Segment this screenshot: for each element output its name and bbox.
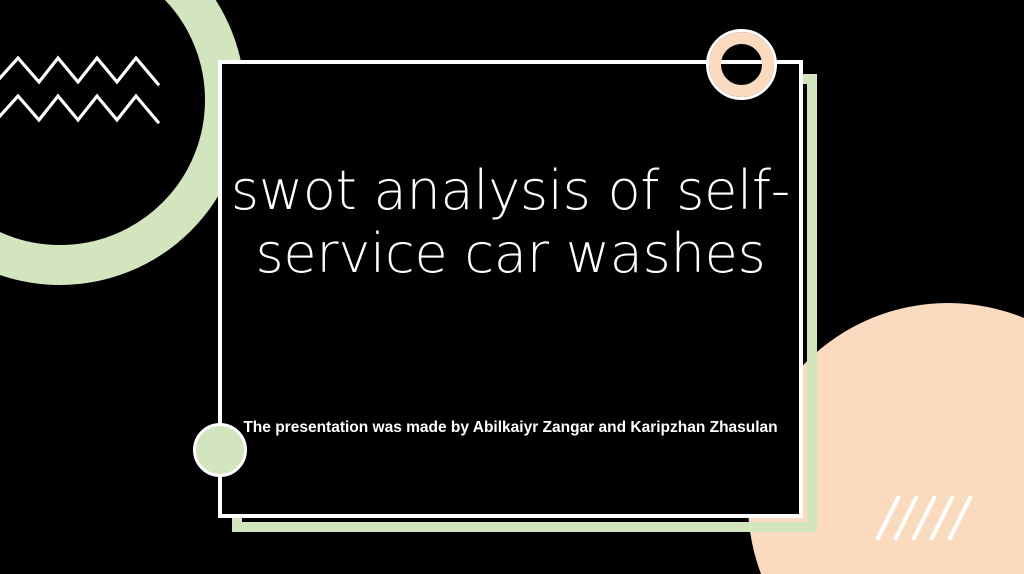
zigzag-decoration xyxy=(0,54,170,126)
peach-ring-inner xyxy=(709,32,774,97)
green-dot-decoration xyxy=(193,423,247,477)
presentation-byline: The presentation was made by Abilkaiyr Z… xyxy=(218,417,803,439)
diagonal-slashes-decoration xyxy=(873,492,973,544)
green-ring-decoration xyxy=(0,0,245,285)
subtitle-block: The presentation was made by Abilkaiyr Z… xyxy=(218,417,803,439)
page-title: swot analysis of self-service car washes xyxy=(218,160,803,285)
white-title-frame xyxy=(218,60,803,518)
peach-ring-decoration xyxy=(706,29,777,100)
title-block: swot analysis of self-service car washes xyxy=(218,160,803,285)
presentation-slide: swot analysis of self-service car washes… xyxy=(0,0,1024,574)
